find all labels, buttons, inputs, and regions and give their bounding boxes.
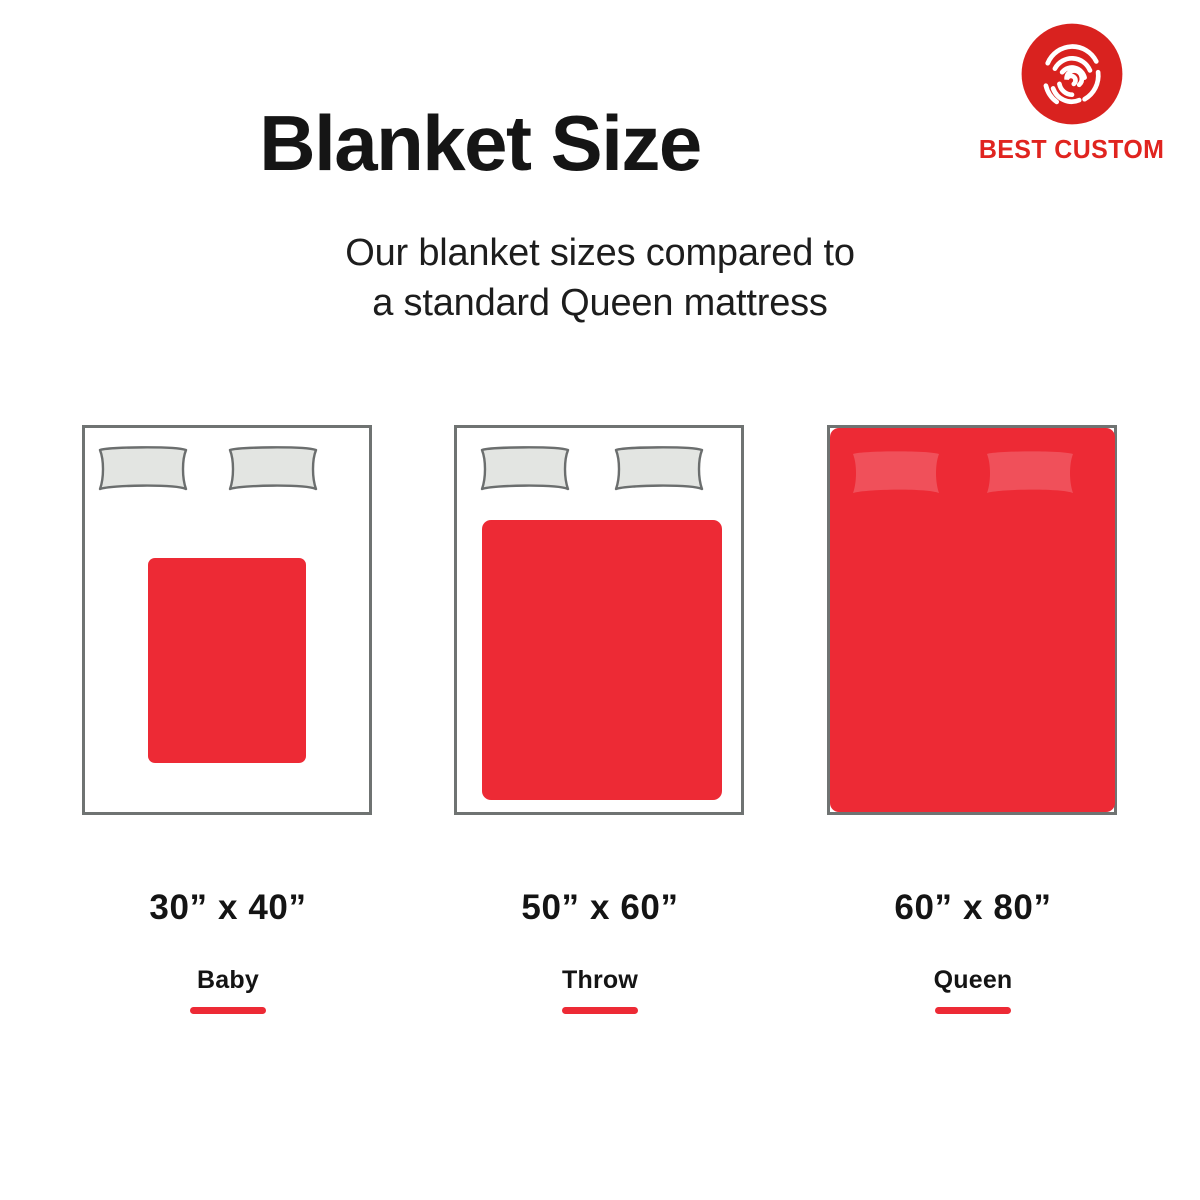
bed-captions-row: 30” x 40” Baby 50” x 60” Throw 60” x 80”…: [0, 890, 1200, 1050]
brand-name: BEST CUSTOM: [979, 134, 1164, 165]
size-dimensions: 30” x 40”: [78, 890, 378, 925]
pillow-right: [230, 447, 316, 489]
infographic-canvas: BEST CUSTOM Blanket Size Our blanket siz…: [0, 0, 1200, 1200]
size-name: Queen: [823, 968, 1123, 993]
blanket-shape: [148, 558, 306, 763]
size-dimensions: 50” x 60”: [450, 890, 750, 925]
size-dimensions: 60” x 80”: [823, 890, 1123, 925]
bed-diagram-baby: [78, 410, 378, 830]
caption-baby: 30” x 40” Baby: [78, 890, 378, 1014]
accent-underline: [190, 1007, 266, 1014]
pillow-right: [616, 447, 702, 489]
caption-queen: 60” x 80” Queen: [823, 890, 1123, 1014]
bed-comparison-row: [0, 410, 1200, 830]
blanket-shape: [482, 520, 722, 800]
size-name: Baby: [78, 968, 378, 993]
bed-graphic: [450, 410, 750, 830]
bed-graphic: [823, 410, 1123, 830]
pillow-right: [987, 451, 1073, 493]
bed-diagram-queen: [823, 410, 1123, 830]
subtitle-line-1: Our blanket sizes compared to: [0, 228, 1200, 278]
page-subtitle: Our blanket sizes compared to a standard…: [0, 228, 1200, 328]
size-name: Throw: [450, 968, 750, 993]
caption-throw: 50” x 60” Throw: [450, 890, 750, 1014]
bed-diagram-throw: [450, 410, 750, 830]
page-title: Blanket Size: [0, 104, 960, 182]
brand-logo: BEST CUSTOM: [964, 20, 1180, 190]
accent-underline: [562, 1007, 638, 1014]
pillow-left: [100, 447, 186, 489]
subtitle-line-2: a standard Queen mattress: [0, 278, 1200, 328]
accent-underline: [935, 1007, 1011, 1014]
pillow-left: [853, 451, 939, 493]
bed-graphic: [78, 410, 378, 830]
fingerprint-icon: [1018, 20, 1126, 128]
pillow-left: [482, 447, 568, 489]
